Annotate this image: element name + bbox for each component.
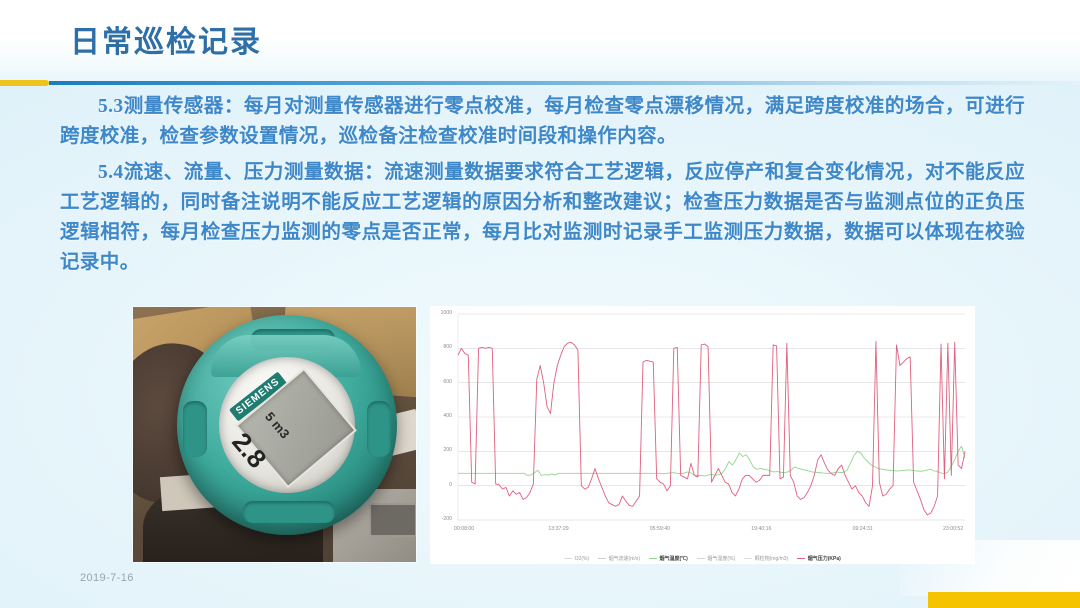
chart-legend: O2(%)烟气流速(m/s)烟气温度(℃)烟气湿度(%)颗粒物(mg/m3)烟气… — [430, 555, 975, 562]
legend-item[interactable]: 烟气湿度(%) — [697, 555, 735, 562]
paragraph-5-4: 5.4流速、流量、压力测量数据：流速测量数据要求符合工艺逻辑，反应停产和复合变化… — [60, 158, 1025, 278]
housing-notch-left — [183, 401, 207, 457]
legend-label: 烟气温度(℃) — [660, 555, 688, 562]
chart-plot-area: 10008006004002000-20000:08:0013:37:2905:… — [430, 306, 975, 564]
body-text-block: 5.3测量传感器：每月对测量传感器进行零点校准，每月检查零点漂移情况，满足跨度校… — [60, 92, 1025, 284]
legend-item[interactable]: 烟气流速(m/s) — [598, 555, 640, 562]
legend-item[interactable]: 烟气压力(KPa) — [797, 555, 841, 562]
legend-item[interactable]: 烟气温度(℃) — [649, 555, 688, 562]
lcd-unit: 5 m3 — [262, 409, 293, 441]
x-axis-tick-label: 13:37:29 — [548, 526, 568, 532]
housing-notch-bottom — [243, 501, 335, 523]
divider-yellow-segment — [0, 80, 49, 86]
housing-notch-right — [367, 401, 391, 457]
divider-blue-line — [49, 81, 1080, 85]
page-title: 日常巡检记录 — [70, 17, 262, 61]
legend-item[interactable]: O2(%) — [564, 556, 589, 562]
corner-yellow-bar — [928, 592, 1080, 608]
chart-svg — [430, 306, 975, 564]
x-axis-tick-label: 19:40:16 — [751, 526, 771, 532]
legend-item[interactable]: 颗粒物(mg/m3) — [744, 555, 788, 562]
legend-swatch — [697, 558, 705, 559]
legend-label: 烟气流速(m/s) — [609, 555, 640, 562]
legend-swatch — [598, 558, 606, 559]
corner-fade-decoration — [900, 540, 1080, 596]
legend-label: 烟气湿度(%) — [707, 555, 735, 562]
x-axis-tick-label: 23:00:52 — [943, 526, 963, 532]
footer-date: 2019-7-16 — [80, 572, 134, 584]
trend-chart: 10008006004002000-20000:08:0013:37:2905:… — [430, 306, 975, 564]
legend-label: 烟气压力(KPa) — [808, 555, 841, 562]
header-divider — [0, 80, 1080, 86]
paragraph-5-3: 5.3测量传感器：每月对测量传感器进行零点校准，每月检查零点漂移情况，满足跨度校… — [60, 92, 1025, 152]
legend-swatch — [564, 558, 572, 559]
legend-swatch — [744, 558, 752, 559]
legend-label: O2(%) — [575, 556, 589, 562]
slide-canvas: 日常巡检记录 5.3测量传感器：每月对测量传感器进行零点校准，每月检查零点漂移情… — [0, 0, 1080, 608]
x-axis-tick-label: 00:08:00 — [454, 526, 474, 532]
x-axis-tick-label: 09:24:31 — [853, 526, 873, 532]
legend-swatch — [649, 558, 657, 559]
legend-swatch — [797, 558, 805, 559]
slide-header: 日常巡检记录 — [0, 0, 1080, 82]
chart-series-line — [458, 341, 965, 514]
photo-metal-plate — [369, 503, 416, 537]
x-axis-tick-label: 05:59:40 — [650, 526, 670, 532]
field-device-photo: SIEMENS 2.8 5 m3 — [133, 307, 416, 562]
legend-label: 颗粒物(mg/m3) — [755, 555, 789, 562]
transmitter-housing: SIEMENS 2.8 5 m3 — [177, 315, 397, 535]
